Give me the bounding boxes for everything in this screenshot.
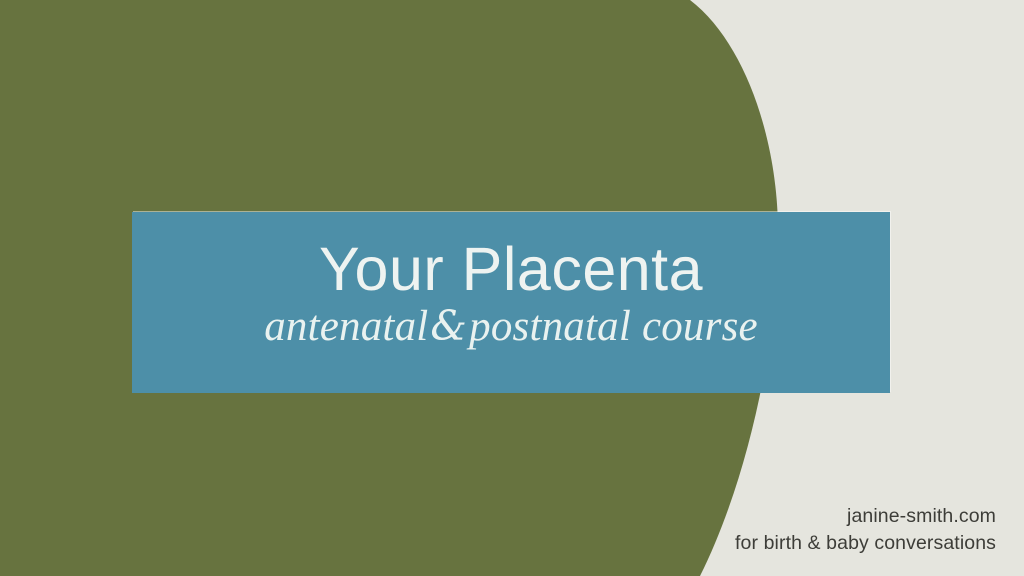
page-subtitle: antenatal&postnatal course [264,303,758,351]
footer-credit: janine-smith.com for birth & baby conver… [735,503,996,558]
subtitle-part-after: postnatal course [469,303,758,350]
footer-website: janine-smith.com [735,503,996,531]
page-title: Your Placenta [319,238,703,301]
slide-canvas: Your Placenta antenatal&postnatal course… [0,0,1024,576]
ampersand-glyph: & [428,302,469,350]
footer-tagline: for birth & baby conversations [735,530,996,558]
subtitle-part-before: antenatal [264,303,428,350]
title-banner: Your Placenta antenatal&postnatal course [132,212,890,393]
